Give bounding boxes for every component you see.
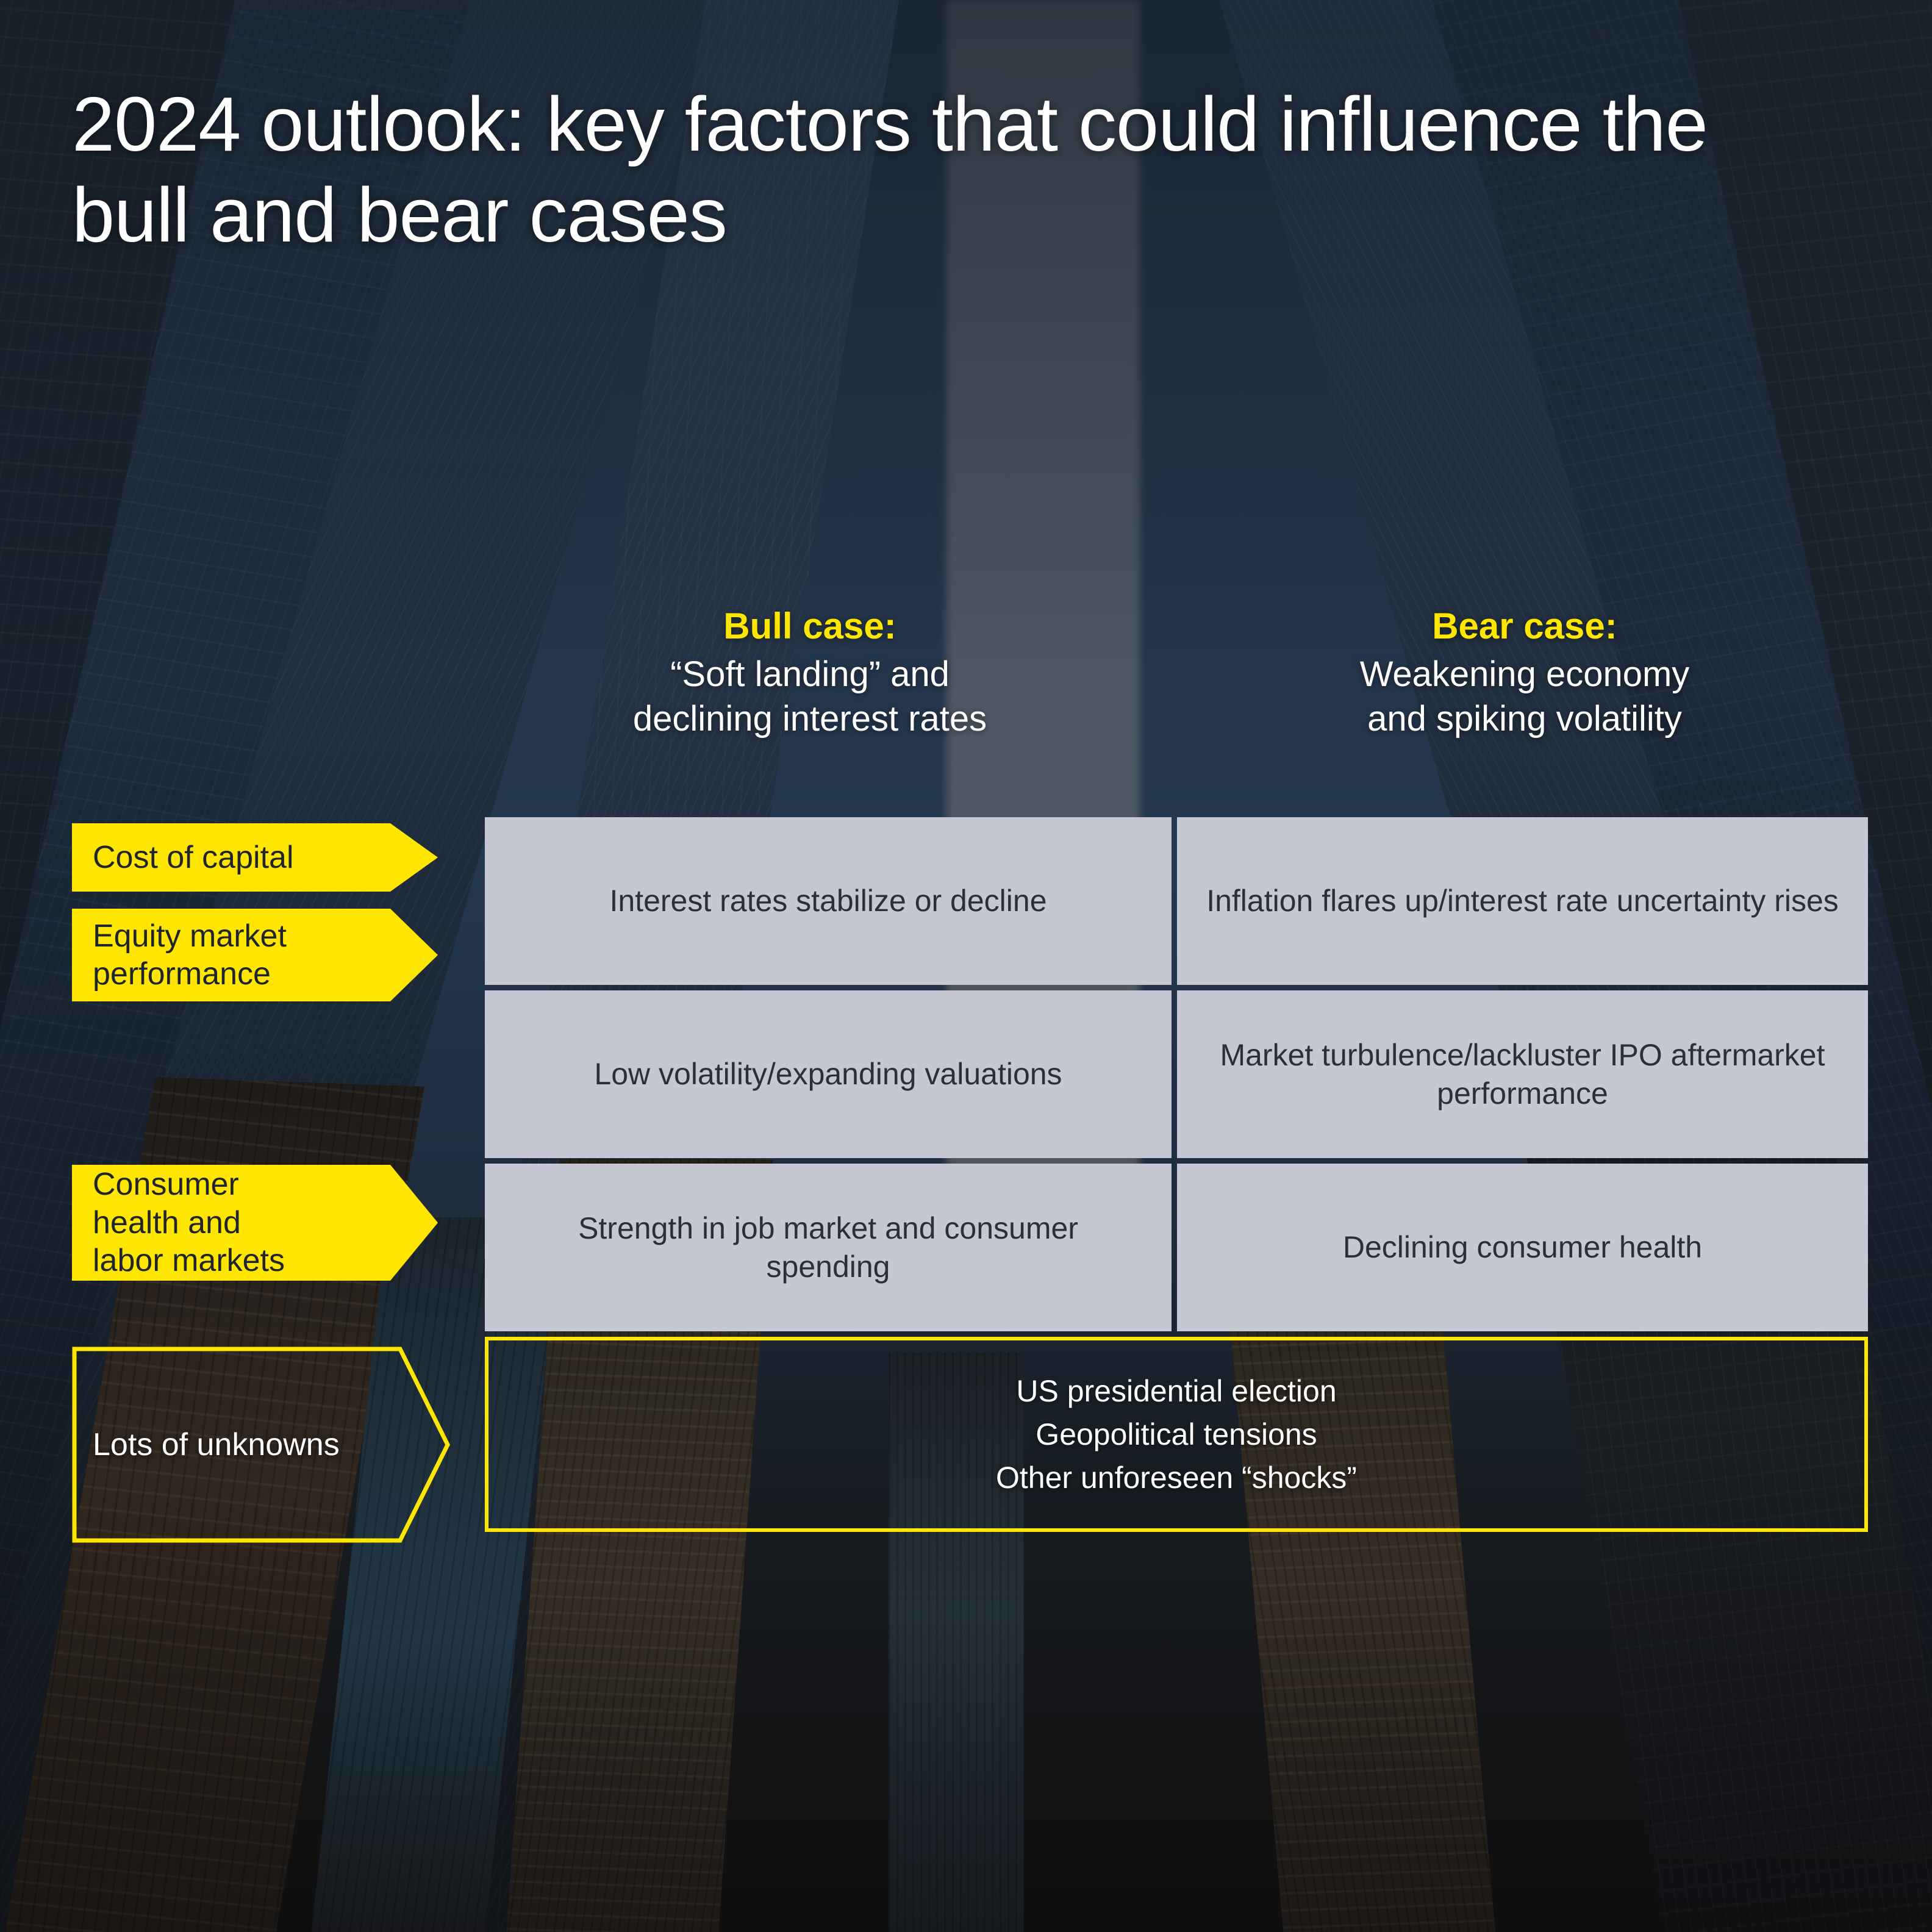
unknowns-line-1: US presidential election	[1016, 1370, 1336, 1413]
slide-root: 2024 outlook: key factors that could inf…	[0, 0, 1932, 1932]
unknowns-line-3: Other unforeseen “shocks”	[996, 1456, 1357, 1500]
column-header-bull: Bull case: “Soft landing” and declining …	[487, 604, 1133, 741]
factor-arrow-consumer-health-labor-markets[interactable]: Consumer health and labor markets	[72, 1165, 438, 1281]
table-cell-bear: Market turbulence/lackluster IPO afterma…	[1177, 990, 1868, 1158]
table-cell-bear: Declining consumer health	[1177, 1164, 1868, 1331]
table-row: Interest rates stabilize or decline Infl…	[485, 817, 1868, 985]
column-header-bull-kicker: Bull case:	[487, 604, 1133, 648]
unknowns-banner: US presidential election Geopolitical te…	[485, 1337, 1868, 1532]
factor-arrow-lots-of-unknowns[interactable]: Lots of unknowns	[72, 1347, 450, 1543]
column-header-bear-subtitle-line1: Weakening economy	[1201, 652, 1848, 696]
table-cell-bull: Low volatility/expanding valuations	[485, 990, 1172, 1158]
comparison-table: Interest rates stabilize or decline Infl…	[485, 817, 1868, 1532]
table-row: Low volatility/expanding valuations Mark…	[485, 990, 1868, 1158]
factor-arrow-label: Equity market performance	[93, 917, 287, 993]
factor-arrow-equity-market-performance[interactable]: Equity market performance	[72, 909, 438, 1001]
factor-arrow-label: Consumer health and labor markets	[93, 1165, 285, 1279]
factor-arrow-label: Lots of unknowns	[93, 1426, 340, 1464]
table-row: Strength in job market and consumer spen…	[485, 1164, 1868, 1331]
unknowns-line-2: Geopolitical tensions	[1036, 1413, 1317, 1456]
table-cell-bull: Strength in job market and consumer spen…	[485, 1164, 1172, 1331]
page-title: 2024 outlook: key factors that could inf…	[72, 79, 1719, 260]
factor-arrow-label: Cost of capital	[93, 839, 294, 876]
column-header-bear: Bear case: Weakening economy and spiking…	[1201, 604, 1848, 741]
column-header-bear-kicker: Bear case:	[1201, 604, 1848, 648]
factor-arrow-cost-of-capital[interactable]: Cost of capital	[72, 823, 438, 892]
column-header-bull-subtitle-line2: declining interest rates	[487, 696, 1133, 741]
column-header-bear-subtitle-line2: and spiking volatility	[1201, 696, 1848, 741]
table-cell-bear: Inflation flares up/interest rate uncert…	[1177, 817, 1868, 985]
table-cell-bull: Interest rates stabilize or decline	[485, 817, 1172, 985]
column-header-bull-subtitle-line1: “Soft landing” and	[487, 652, 1133, 696]
